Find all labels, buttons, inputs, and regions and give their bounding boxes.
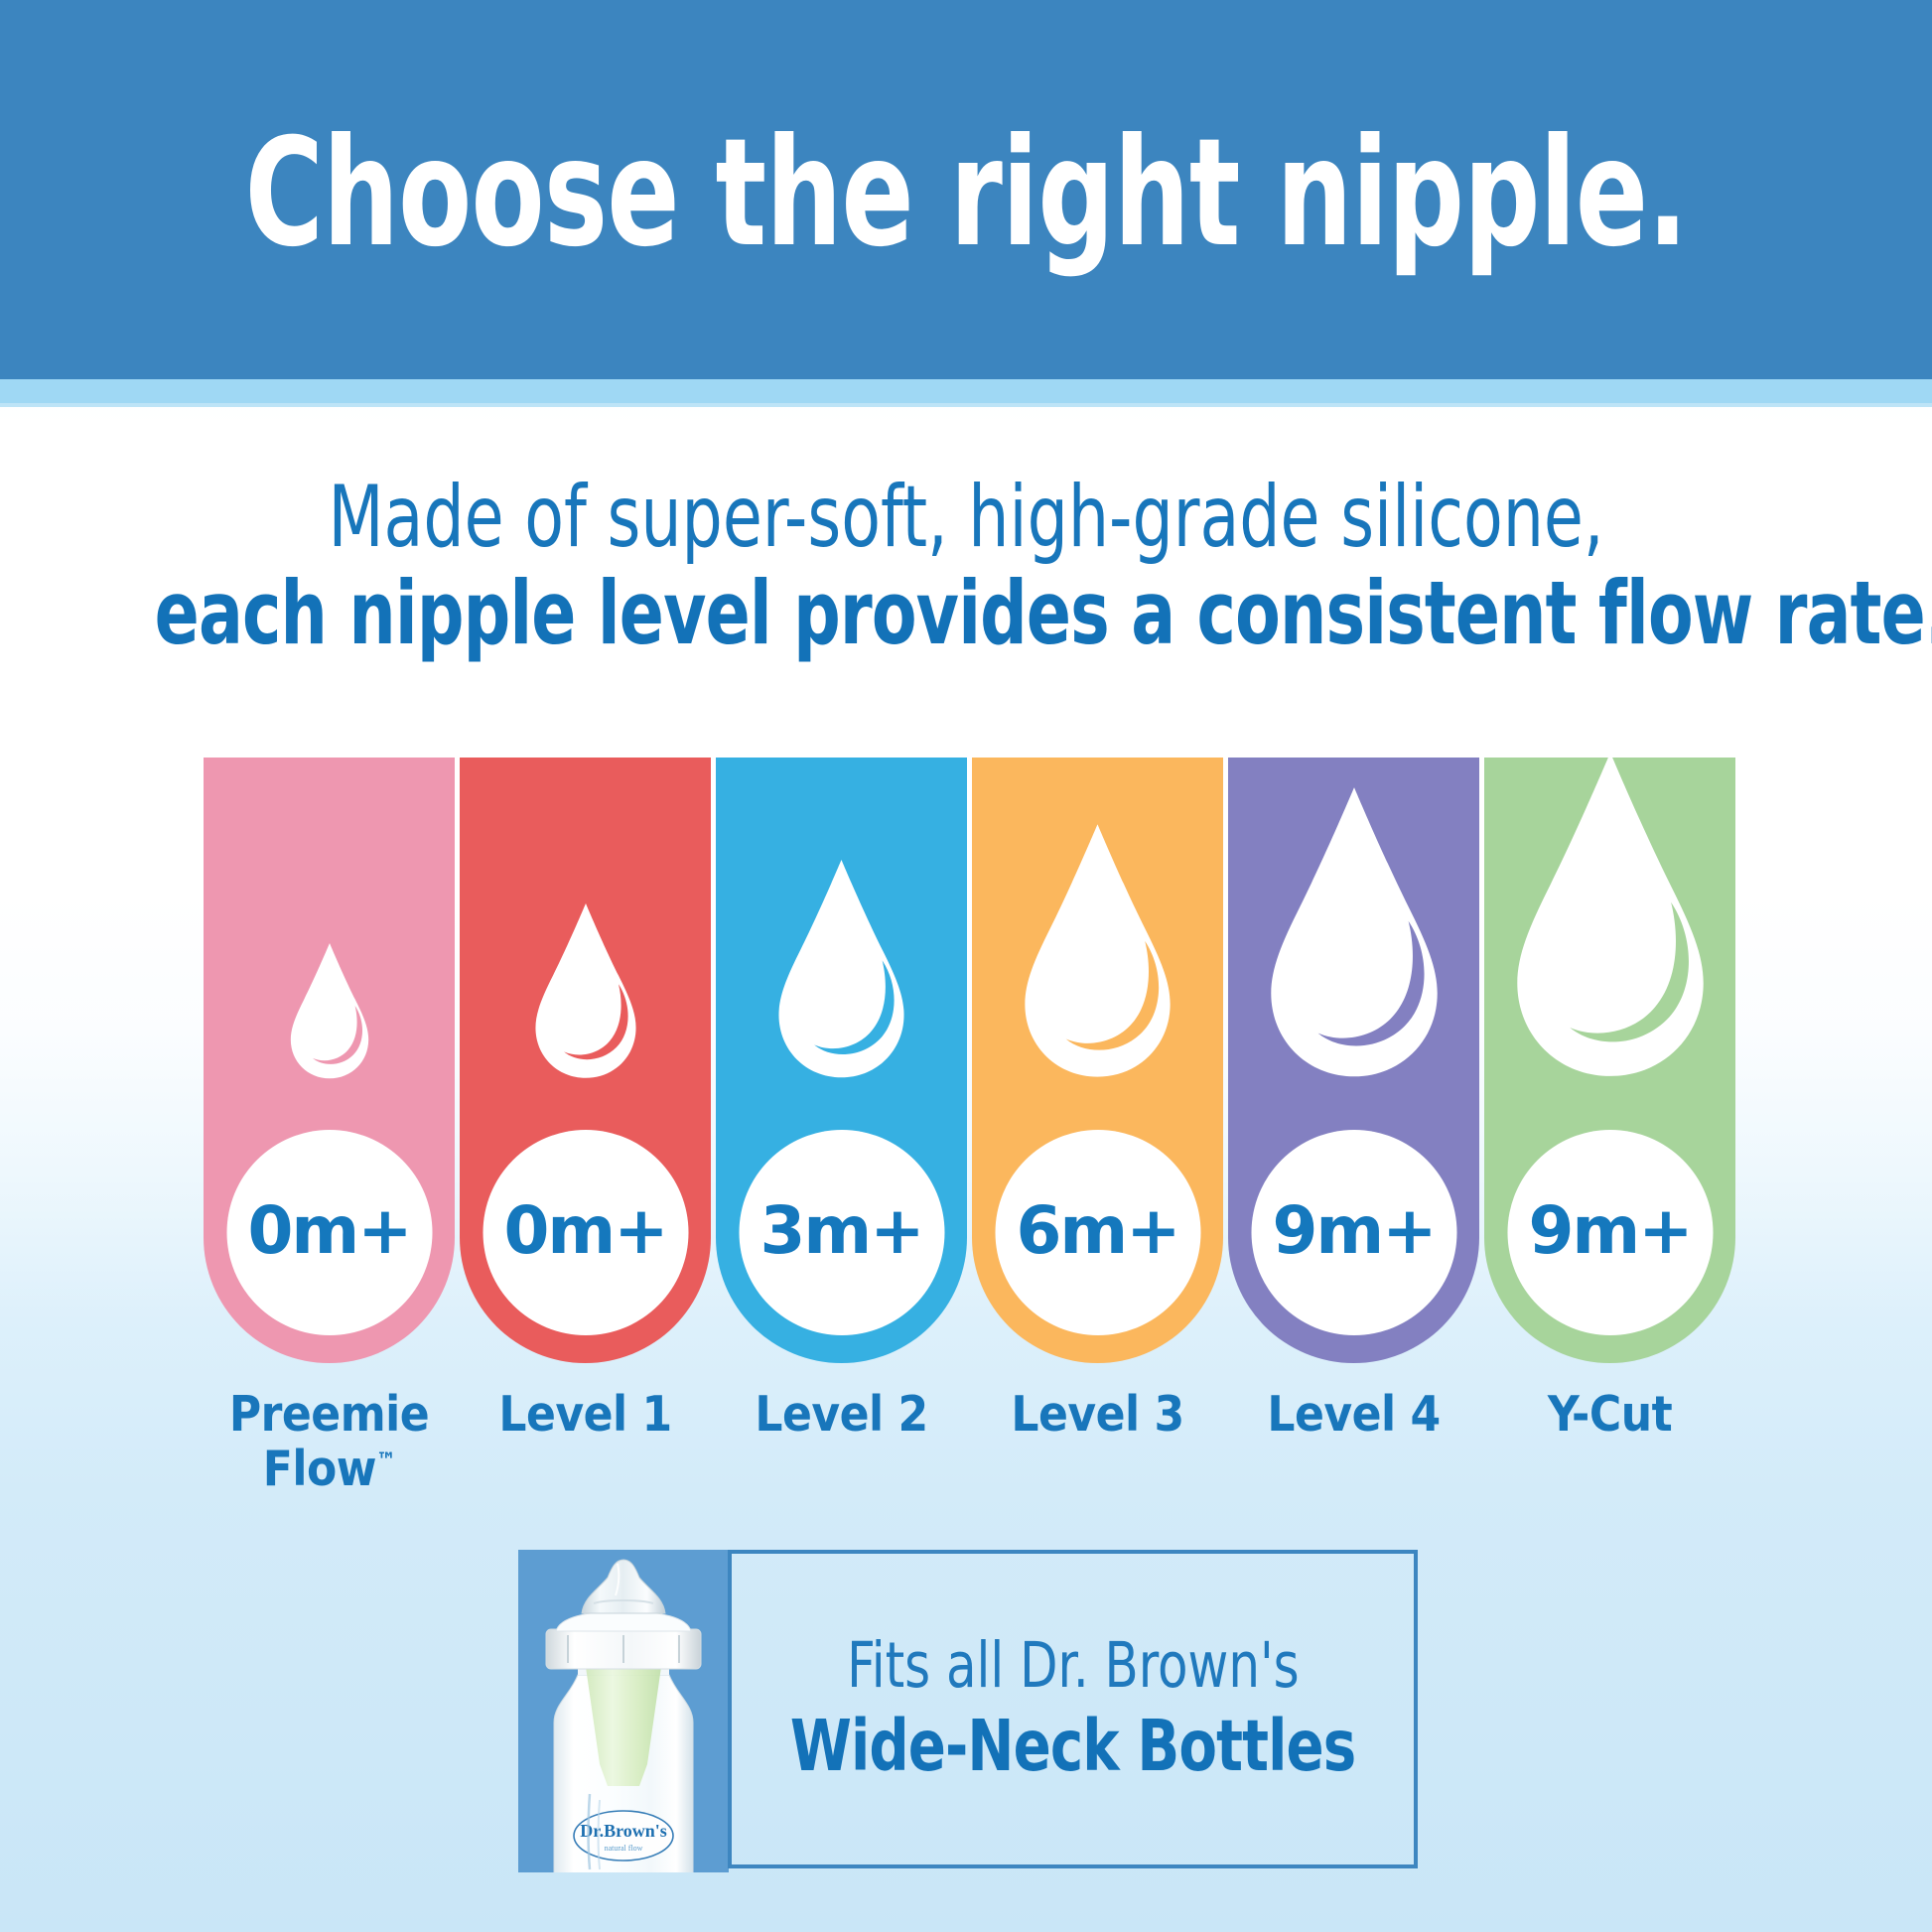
nipple-level-column[interactable]: 6m+ bbox=[972, 758, 1223, 1363]
level-name-label: Y-Cut bbox=[1484, 1388, 1735, 1517]
age-badge: 3m+ bbox=[739, 1130, 944, 1335]
bottle-logo-subtext: natural flow bbox=[605, 1844, 643, 1853]
nipple-level-column[interactable]: 3m+ bbox=[716, 758, 967, 1363]
age-badge-label: 3m+ bbox=[760, 1198, 923, 1264]
nipple-level-column[interactable]: 0m+ bbox=[460, 758, 711, 1363]
nipple-level-column[interactable]: 9m+ bbox=[1484, 758, 1735, 1363]
flow-droplet-wrapper bbox=[204, 943, 455, 1080]
level-name-line-1: Level 3 bbox=[972, 1388, 1223, 1443]
age-badge: 9m+ bbox=[1507, 1130, 1713, 1335]
level-name-line-1: Preemie bbox=[204, 1388, 455, 1443]
water-drop-icon bbox=[1019, 824, 1176, 1080]
nipple-label-row: PreemieFlow™Level 1Level 2Level 3Level 4… bbox=[204, 1388, 1737, 1517]
level-name-label: Level 1 bbox=[460, 1388, 711, 1517]
flow-droplet-wrapper bbox=[972, 824, 1223, 1080]
level-name-line-1: Level 1 bbox=[460, 1388, 711, 1443]
age-badge-label: 0m+ bbox=[248, 1198, 411, 1264]
page-title: Choose the right nipple. bbox=[245, 119, 1688, 268]
water-drop-icon bbox=[773, 860, 909, 1080]
subtitle-line-2: each nipple level provides a consistent … bbox=[155, 568, 1778, 659]
level-name-line-2: Flow™ bbox=[204, 1443, 455, 1497]
age-badge-label: 9m+ bbox=[1529, 1198, 1692, 1264]
flow-droplet-wrapper bbox=[1228, 787, 1479, 1080]
water-drop-icon bbox=[1264, 787, 1445, 1080]
age-badge: 6m+ bbox=[995, 1130, 1200, 1335]
nipple-level-column[interactable]: 0m+ bbox=[204, 758, 455, 1363]
level-name-line-1: Y-Cut bbox=[1484, 1388, 1735, 1443]
subtitle-line-1: Made of super-soft, high-grade silicone, bbox=[155, 475, 1778, 562]
fits-line-2: Wide-Neck Bottles bbox=[790, 1709, 1356, 1785]
age-badge-label: 9m+ bbox=[1273, 1198, 1436, 1264]
flow-droplet-wrapper bbox=[460, 903, 711, 1080]
header-accent-band-edge bbox=[0, 403, 1932, 407]
subtitle-block: Made of super-soft, high-grade silicone,… bbox=[0, 475, 1932, 659]
fits-text-box: Fits all Dr. Brown's Wide-Neck Bottles bbox=[728, 1550, 1418, 1868]
level-name-label: Level 4 bbox=[1228, 1388, 1479, 1517]
header-accent-band bbox=[0, 379, 1932, 405]
water-drop-icon bbox=[1509, 753, 1712, 1080]
age-badge-label: 6m+ bbox=[1017, 1198, 1179, 1264]
level-name-line-2-text: Flow bbox=[263, 1441, 376, 1497]
flow-droplet-wrapper bbox=[1484, 753, 1735, 1080]
level-name-label: PreemieFlow™ bbox=[204, 1388, 455, 1517]
level-name-label: Level 2 bbox=[716, 1388, 967, 1517]
poster-root: Choose the right nipple. Made of super-s… bbox=[0, 0, 1932, 1932]
trademark-symbol: ™ bbox=[376, 1449, 395, 1474]
age-badge-label: 0m+ bbox=[504, 1198, 667, 1264]
flow-droplet-wrapper bbox=[716, 860, 967, 1080]
age-badge: 9m+ bbox=[1251, 1130, 1456, 1335]
nipple-level-column[interactable]: 9m+ bbox=[1228, 758, 1479, 1363]
age-badge: 0m+ bbox=[483, 1130, 688, 1335]
fits-all-card: Dr.Brown's natural flow Fits all Dr. Bro… bbox=[518, 1550, 1418, 1872]
water-drop-icon bbox=[287, 943, 372, 1080]
baby-bottle-image: Dr.Brown's natural flow bbox=[524, 1556, 723, 1872]
level-name-label: Level 3 bbox=[972, 1388, 1223, 1517]
level-name-line-1: Level 4 bbox=[1228, 1388, 1479, 1443]
age-badge: 0m+ bbox=[226, 1130, 432, 1335]
header-banner: Choose the right nipple. bbox=[0, 0, 1932, 379]
water-drop-icon bbox=[531, 903, 640, 1080]
bottle-logo-text: Dr.Brown's bbox=[580, 1821, 667, 1841]
fits-line-1: Fits all Dr. Brown's bbox=[847, 1633, 1300, 1699]
nipple-level-row: 0m+0m+3m+6m+9m+9m+ bbox=[204, 758, 1737, 1363]
bottle-image-panel: Dr.Brown's natural flow bbox=[518, 1550, 729, 1872]
level-name-line-1: Level 2 bbox=[716, 1388, 967, 1443]
